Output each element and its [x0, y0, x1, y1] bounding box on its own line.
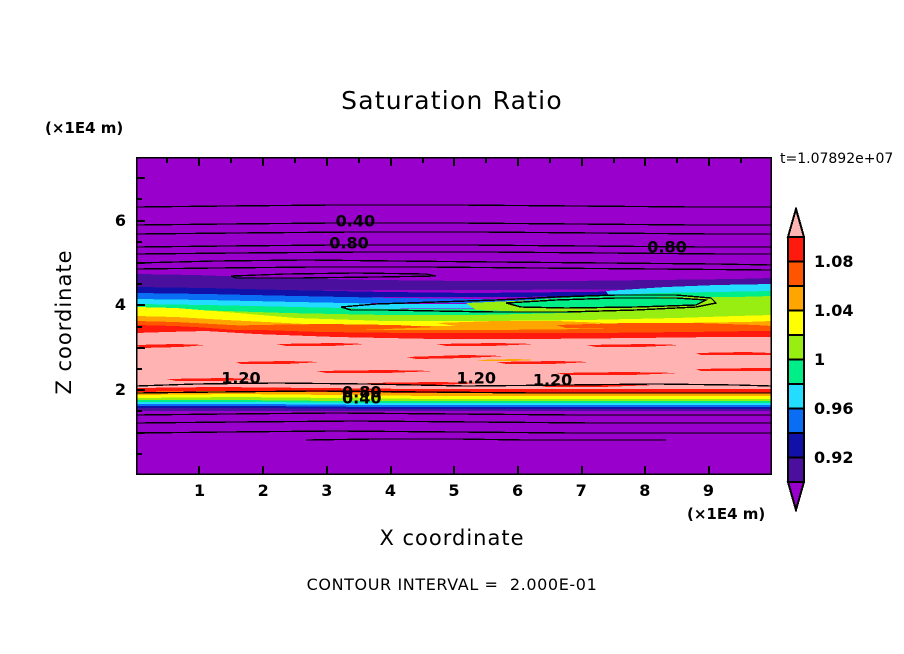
x-tick-label: 2 — [248, 481, 278, 500]
colorbar-tick-label: 1 — [814, 350, 874, 369]
x-tick-label: 8 — [630, 481, 660, 500]
x-units-label: (×1E4 m) — [687, 505, 765, 523]
page-title: Saturation Ratio — [0, 86, 904, 115]
z-units-label: (×1E4 m) — [45, 119, 123, 137]
x-tick-label: 9 — [693, 481, 723, 500]
x-axis-title: X coordinate — [0, 526, 904, 550]
contour-interval-caption: CONTOUR INTERVAL = 2.000E-01 — [0, 575, 904, 594]
contour-value-label: 0.40 — [336, 212, 375, 231]
y-tick-label: 6 — [100, 211, 126, 230]
y-tick-label: 2 — [100, 380, 126, 399]
x-tick-label: 5 — [439, 481, 469, 500]
colorbar-tick-label: 1.04 — [814, 301, 874, 320]
contour-value-label: 1.20 — [533, 370, 572, 389]
contour-value-label: 1.20 — [457, 369, 496, 388]
x-tick-label: 6 — [503, 481, 533, 500]
contour-value-label: 0.80 — [647, 238, 686, 257]
x-tick-label: 4 — [375, 481, 405, 500]
y-axis-title: Z coordinate — [52, 222, 76, 422]
figure-canvas: Saturation Ratio (×1E4 m) t=1.07892e+07 — [0, 0, 904, 654]
colorbar-swatches — [783, 207, 809, 512]
colorbar-tick-label: 0.92 — [814, 448, 874, 467]
contour-field — [136, 157, 772, 475]
x-tick-label: 3 — [312, 481, 342, 500]
time-annotation: t=1.07892e+07 — [780, 151, 893, 167]
contour-value-label: 0.40 — [342, 388, 381, 407]
contour-plot: 0.400.800.801.201.201.200.800.40 — [136, 157, 772, 475]
contour-value-label: 1.20 — [221, 369, 260, 388]
x-tick-label: 7 — [566, 481, 596, 500]
y-tick-label: 4 — [100, 295, 126, 314]
contour-value-label: 0.80 — [329, 233, 368, 252]
colorbar-tick-label: 1.08 — [814, 252, 874, 271]
x-tick-label: 1 — [185, 481, 215, 500]
colorbar-tick-label: 0.96 — [814, 399, 874, 418]
colorbar — [783, 207, 809, 512]
